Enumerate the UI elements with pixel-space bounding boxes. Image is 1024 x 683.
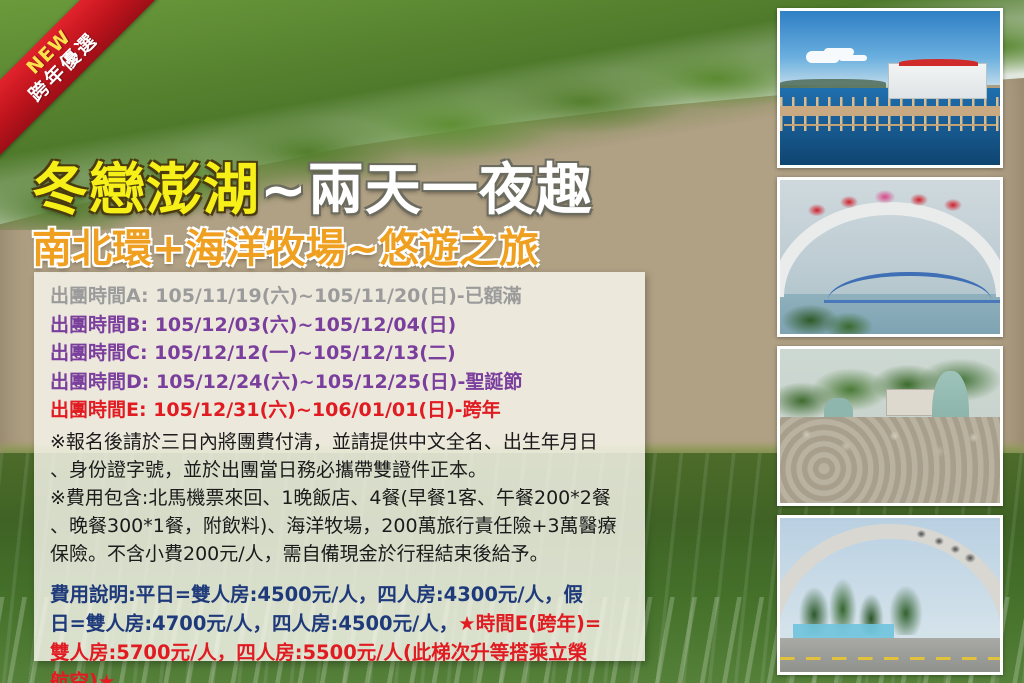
departure-row-d: 出團時間D: 105/12/24(六)~105/12/25(日)-聖誕節 [50, 368, 631, 397]
p1-red-roof [899, 59, 978, 67]
note-line-2: 、身份證字號，並於出團當日務必攜帶雙證件正本。 [50, 456, 631, 484]
price-line-4: 航空)★ [50, 667, 631, 683]
note-line-3: ※費用包含:北馬機票來回、1晚飯店、4餐(早餐1客、午餐200*2餐 [50, 484, 631, 512]
title-main-white: ~兩天一夜趣 [260, 158, 593, 223]
photo-penghu-welcome-arch [777, 177, 1003, 337]
departure-row-e: 出團時間E: 105/12/31(六)~106/01/01(日)-跨年 [50, 396, 631, 425]
ribbon-banner: NEW 跨年優選 [0, 0, 157, 160]
p3-coral-stone-wall [780, 417, 1000, 503]
note-line-1: ※報名後請於三日內將團費付清，並請提供中文全名、出生年月日 [50, 428, 631, 456]
price-line-2: 日=雙人房:4700元/人，四人房:4500元/人，★時間E(跨年)= [50, 609, 631, 638]
photo-coral-wall-statues [777, 346, 1003, 506]
title-block: 冬戀澎湖~兩天一夜趣 南北環+海洋牧場~悠遊之旅 [32, 160, 593, 272]
p1-floating-deck [780, 106, 1000, 115]
departure-row-c: 出團時間C: 105/12/12(一)~105/12/13(二) [50, 339, 631, 368]
photo-cross-sea-bridge-arch [777, 515, 1003, 675]
price-line-2-highlight: ★時間E(跨年)= [458, 612, 601, 635]
pricing-block: 費用說明:平日=雙人房:4500元/人，四人房:4300元/人，假 日=雙人房:… [50, 580, 631, 683]
departure-row-a: 出團時間A: 105/11/19(六)~105/11/20(日)-已額滿 [50, 282, 631, 311]
p1-cloud [806, 51, 840, 63]
page-subtitle: 南北環+海洋牧場~悠遊之旅 [32, 226, 593, 272]
p2-trees [780, 288, 881, 334]
terms-notes: ※報名後請於三日內將團費付清，並請提供中文全名、出生年月日 、身份證字號，並於出… [50, 428, 631, 568]
departure-row-b: 出團時間B: 105/12/03(六)~105/12/04(日) [50, 311, 631, 340]
price-line-1: 費用說明:平日=雙人房:4500元/人，四人房:4300元/人，假 [50, 580, 631, 609]
photo-column [777, 0, 1003, 683]
page-title: 冬戀澎湖~兩天一夜趣 [32, 160, 593, 222]
info-panel: 出團時間A: 105/11/19(六)~105/11/20(日)-已額滿 出團時… [34, 272, 645, 661]
p1-platform-building [888, 63, 987, 99]
travel-poster: NEW 跨年優選 冬戀澎湖~兩天一夜趣 南北環+海洋牧場~悠遊之旅 出團時間A:… [0, 0, 1024, 683]
p4-road-centerline [780, 657, 1000, 660]
note-line-5: 保險。不含小費200元/人，需自備現金於行程結束後給予。 [50, 540, 631, 568]
photo-ocean-farm-platform [777, 8, 1003, 168]
title-main-yellow: 冬戀澎湖 [32, 158, 260, 223]
price-line-3: 雙人房:5700元/人，四人房:5500元/人(此梯次升等搭乘立榮 [50, 638, 631, 667]
corner-ribbon: NEW 跨年優選 [0, 0, 160, 160]
note-line-4: 、晚餐300*1餐，附飲料)、海洋牧場，200萬旅行責任險+3萬醫療 [50, 512, 631, 540]
p2-red-characters [798, 188, 987, 225]
price-line-2-blue: 日=雙人房:4700元/人，四人房:4500元/人， [50, 612, 458, 635]
p4-engraved-characters [908, 526, 983, 566]
